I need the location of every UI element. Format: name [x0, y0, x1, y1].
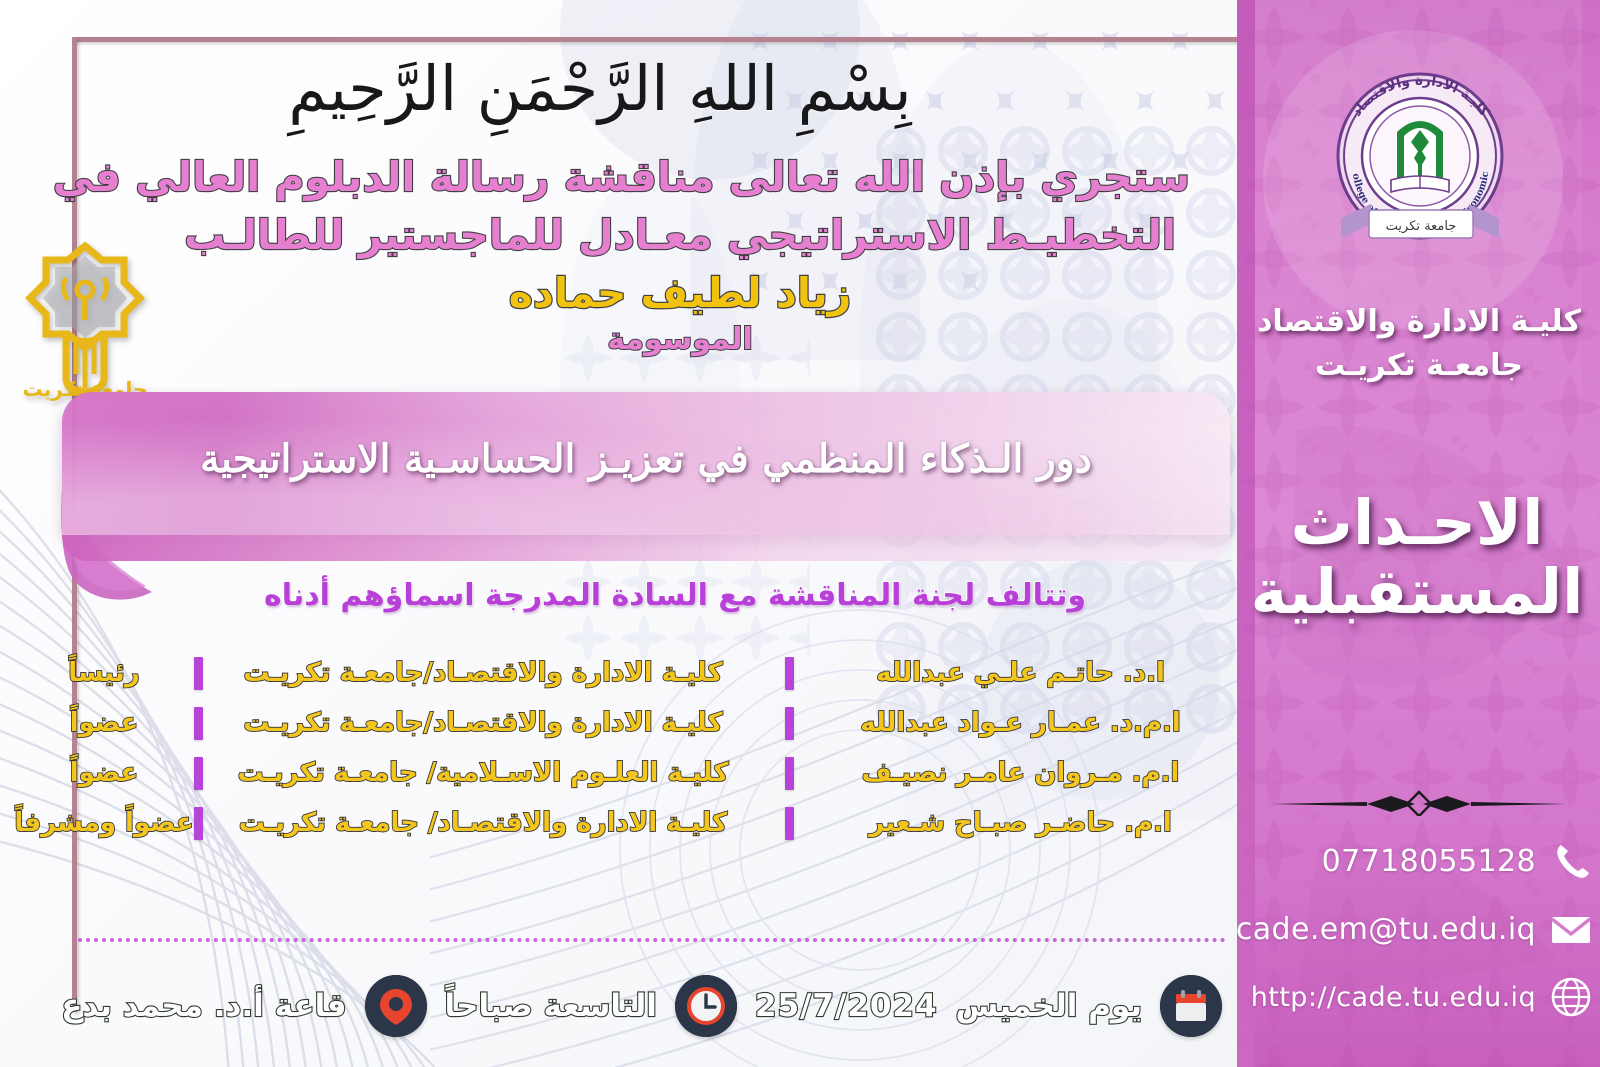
ribbon-skirt	[62, 535, 1230, 561]
phone-icon	[1550, 840, 1592, 882]
member-role: عضواً	[14, 708, 194, 738]
member-name: ا.م. حاضـر صبـاح شـعير	[810, 808, 1215, 838]
member-role: عضواً ومشرفاً	[14, 808, 194, 838]
globe-icon	[1550, 976, 1592, 1018]
section-title-line-2: المستقبلية	[1243, 557, 1591, 626]
poster-root: جامعة تكريت بِسْمِ اللهِ الرَّحْمَنِ الر…	[0, 0, 1600, 1067]
calendar-icon	[1160, 975, 1222, 1037]
member-name: ا.د. حاتـم علـي عبدالله	[810, 658, 1215, 688]
event-time: التاسعة صباحاً	[445, 988, 657, 1024]
contact-website-value: http://cade.tu.edu.iq	[1251, 982, 1536, 1013]
event-date: 25/7/2024	[755, 988, 938, 1024]
thesis-title-ribbon: دور الـذكاء المنظمي في تعزيـز الحساسـية …	[62, 392, 1230, 552]
member-name: ا.م. مـروان عامـر نصيـف	[810, 758, 1215, 788]
fleuron-divider-icon	[1271, 790, 1567, 816]
member-affiliation: كليـة الادارة والاقتصـاد/جامعـة تكريـت	[203, 658, 763, 688]
row-separator	[785, 707, 794, 740]
college-line-2: جامعـة تكريـت	[1249, 344, 1589, 388]
table-row: ا.م. حاضـر صبـاح شـعير كليـة الادارة وال…	[0, 798, 1215, 848]
titled-label: الموسومة	[170, 322, 1190, 358]
dashed-divider	[78, 938, 1226, 942]
contact-email-row[interactable]: cade.em@tu.edu.iq	[1259, 908, 1592, 950]
logo-ribbon-text: جامعة تكريت	[1386, 219, 1457, 234]
member-role: عضواً	[14, 758, 194, 788]
headline-block: ستجري بإذن الله تعالى مناقشة رسالة الدبل…	[170, 148, 1190, 358]
row-separator	[785, 657, 794, 690]
table-row: ا.د. حاتـم علـي عبدالله كليـة الادارة وا…	[0, 648, 1215, 698]
clock-icon	[675, 975, 737, 1037]
headline-line-1: ستجري بإذن الله تعالى مناقشة رسالة الدبل…	[170, 148, 1190, 206]
member-affiliation: كليـة العلـوم الاسـلامية/ جامعـة تكريـت	[203, 758, 763, 788]
student-name: زياد لطيف حماده	[170, 268, 1190, 319]
location-pin-icon	[365, 975, 427, 1037]
tikrit-university-emblem: جامعة تكريت	[10, 238, 160, 403]
contact-phone-value: 07718055128	[1322, 844, 1536, 879]
sidebar: كليـة الادارة والاقتصاد College of Admin…	[1237, 0, 1600, 1067]
college-line-1: كليـة الادارة والاقتصاد	[1249, 300, 1589, 344]
sidebar-college-name: كليـة الادارة والاقتصاد جامعـة تكريـت	[1249, 300, 1589, 387]
sidebar-contact-list: 07718055128 cade.em@tu.edu.iq	[1247, 840, 1592, 1018]
row-separator	[785, 757, 794, 790]
member-affiliation: كليـة الادارة والاقتصـاد/ جامعـة تكريـت	[203, 808, 763, 838]
row-separator	[194, 757, 203, 790]
member-name: ا.م.د. عمـار عـواد عبدالله	[810, 708, 1215, 738]
member-role: رئيساً	[14, 658, 194, 688]
mail-icon	[1550, 908, 1592, 950]
row-separator	[785, 807, 794, 840]
committee-table: ا.د. حاتـم علـي عبدالله كليـة الادارة وا…	[0, 648, 1215, 848]
row-separator	[194, 657, 203, 690]
headline-line-2: التخطيـط الاستراتيجي معـادل للماجستير لل…	[170, 206, 1190, 264]
college-seal-logo: كليـة الادارة والاقتصاد College of Admin…	[1313, 52, 1528, 267]
row-separator	[194, 807, 203, 840]
event-day: يوم الخميس	[956, 988, 1142, 1024]
member-affiliation: كليـة الادارة والاقتصـاد/جامعـة تكريـت	[203, 708, 763, 738]
contact-website-row[interactable]: http://cade.tu.edu.iq	[1259, 976, 1592, 1018]
section-title-line-1: الاحـداث	[1243, 488, 1591, 557]
contact-email-value: cade.em@tu.edu.iq	[1237, 912, 1536, 947]
frame-top-border	[72, 37, 1257, 42]
sidebar-section-title: الاحـداث المستقبلية	[1243, 488, 1591, 627]
thesis-title-text: دور الـذكاء المنظمي في تعزيـز الحساسـية …	[62, 436, 1230, 482]
event-venue: قاعة أ.د. محمد بدع	[61, 988, 346, 1024]
table-row: ا.م.د. عمـار عـواد عبدالله كليـة الادارة…	[0, 698, 1215, 748]
table-row: ا.م. مـروان عامـر نصيـف كليـة العلـوم ال…	[0, 748, 1215, 798]
bismillah-text: بِسْمِ اللهِ الرَّحْمَنِ الرَّحِيمِ	[0, 58, 1200, 120]
event-details-footer: يوم الخميس 25/7/2024 التاسعة صباحاً قاعة…	[40, 958, 1230, 1054]
contact-phone-row[interactable]: 07718055128	[1259, 840, 1592, 882]
row-separator	[194, 707, 203, 740]
committee-intro-text: وتتالف لجنة المناقشة مع السادة المدرجة ا…	[120, 578, 1230, 613]
